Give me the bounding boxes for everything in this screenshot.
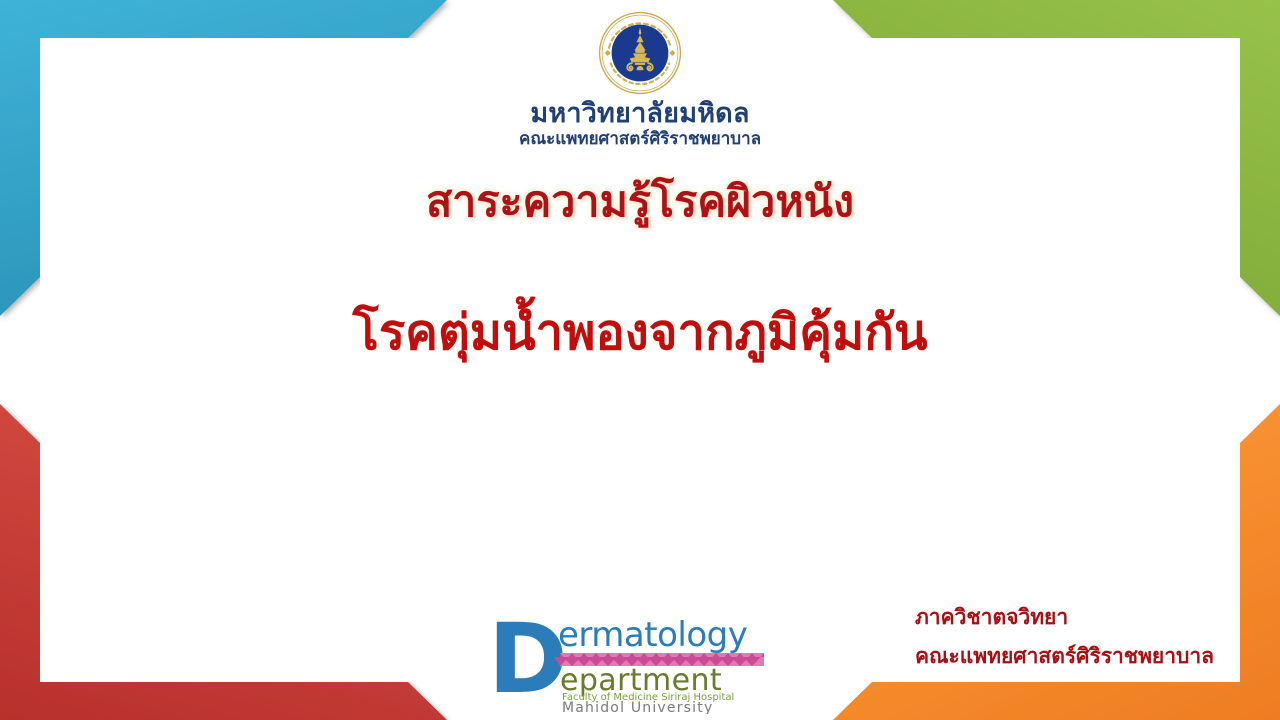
presentation-slide: มหาวิทยาลัยมหิดล คณะแพทยศาสตร์ศิริราชพยา… (0, 0, 1280, 720)
slide-title: สาระความรู้โรคผิวหนัง (40, 176, 1240, 230)
university-faculty-thai: คณะแพทยศาสตร์ศิริราชพยาบาล (519, 129, 761, 149)
department-caption-line-1: ภาควิชาตจวิทยา (915, 598, 1214, 637)
derm-logo-word-top: ermatology (558, 615, 748, 655)
department-caption-line-2: คณะแพทยศาสตร์ศิริราชพยาบาล (915, 637, 1214, 676)
mahidol-seal-icon (597, 10, 683, 96)
derm-logo-university-line: Mahidol University (562, 700, 713, 714)
department-caption: ภาควิชาตจวิทยา คณะแพทยศาสตร์ศิริราชพยาบา… (915, 598, 1214, 676)
university-logo-block: มหาวิทยาลัยมหิดล คณะแพทยศาสตร์ศิริราชพยา… (40, 10, 1240, 149)
derm-logo-letter-d: D (488, 606, 568, 714)
slide-subtitle: โรคตุ่มน้ำพองจากภูมิคุ้มกัน (40, 302, 1240, 363)
headline-block: สาระความรู้โรคผิวหนัง โรคตุ่มน้ำพองจากภู… (40, 176, 1240, 363)
university-name-thai: มหาวิทยาลัยมหิดล (530, 98, 749, 129)
dermatology-department-logo: D ermatology epartment Faculty of Medici… (486, 606, 774, 714)
slide-content-area: มหาวิทยาลัยมหิดล คณะแพทยศาสตร์ศิริราชพยา… (40, 38, 1240, 682)
